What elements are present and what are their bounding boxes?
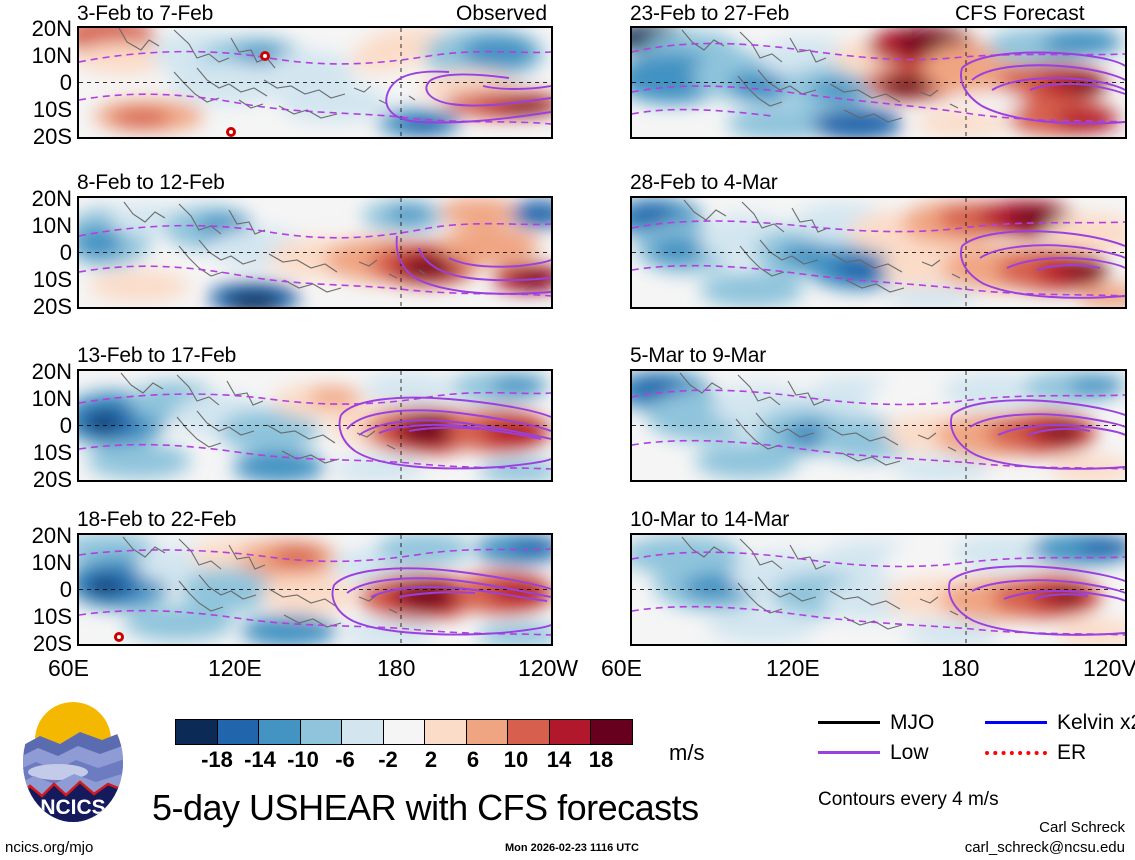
map-panel-5mar-9mar[interactable] [630,369,1127,482]
panel-title-3: 13-Feb to 17-Feb [77,345,236,366]
legend-item-kelvin: Kelvin x2 [985,712,1135,733]
observed-label: Observed [456,3,547,24]
site-url[interactable]: ncics.org/mjo [5,840,93,855]
ylabel-r2-10S: 10S [6,269,72,291]
xlabel-left-60E: 60E [48,657,89,680]
colorbar-swatch-2 [217,719,260,745]
ylabel-r2-20N: 20N [6,188,72,210]
colorbar-unit-label: m/s [669,742,704,764]
colorbar-tick-18: 18 [574,749,628,771]
author-name: Carl Schreck [900,820,1125,835]
panel-title-7: 5-Mar to 9-Mar [630,345,766,366]
colorbar-swatch-5 [341,719,384,745]
legend-line-low [818,751,880,754]
panel-title-8: 10-Mar to 14-Mar [630,509,789,530]
xlabel-left-180: 180 [377,657,415,680]
map-panel-3feb-7feb[interactable] [77,26,553,139]
legend-label-low: Low [890,742,929,763]
ylabel-r4-20N: 20N [6,525,72,547]
ylabel-r2-10N: 10N [6,215,72,237]
ylabel-r1-10S: 10S [6,99,72,121]
ylabel-r3-10N: 10N [6,388,72,410]
xlabel-right-120E: 120E [766,657,820,680]
colorbar-swatch-4 [300,719,343,745]
colorbar-swatch-1 [175,719,218,745]
panel-title-6: 28-Feb to 4-Mar [630,172,778,193]
panel-title-2: 8-Feb to 12-Feb [77,172,225,193]
ylabel-r4-10N: 10N [6,552,72,574]
ylabel-r4-10S: 10S [6,606,72,628]
legend-label-er: ER [1057,742,1086,763]
legend-label-kelvin: Kelvin x2 [1057,712,1135,733]
contour-interval-note: Contours every 4 m/s [818,790,999,809]
ylabel-r2-0: 0 [6,242,72,264]
ylabel-r1-20S: 20S [6,126,72,148]
xlabel-right-180: 180 [941,657,979,680]
colorbar-swatch-7 [424,719,467,745]
generated-timestamp: Mon 2026-02-23 1116 UTC [505,843,639,854]
ylabel-r3-20N: 20N [6,361,72,383]
ylabel-r1-0: 0 [6,72,72,94]
colorbar-swatch-10 [549,719,592,745]
ylabel-r4-0: 0 [6,579,72,601]
ylabel-r2-20S: 20S [6,296,72,318]
legend-item-mjo: MJO [818,712,934,733]
ylabel-r3-0: 0 [6,415,72,437]
colorbar-swatches [175,719,632,745]
panel-title-1: 3-Feb to 7-Feb [77,3,213,24]
map-panel-18feb-22feb[interactable] [77,533,553,646]
panel-title-5: 23-Feb to 27-Feb [630,3,789,24]
colorbar-swatch-9 [507,719,550,745]
colorbar-swatch-11 [590,719,633,745]
ncics-logo: NCICS [18,700,128,825]
colorbar-swatch-3 [258,719,301,745]
ylabel-r4-20S: 20S [6,633,72,655]
map-panel-13feb-17feb[interactable] [77,369,553,482]
legend-label-mjo: MJO [890,712,934,733]
colorbar-swatch-8 [466,719,509,745]
author-email: carl_schreck@ncsu.edu [860,840,1125,855]
colorbar-swatch-6 [383,719,426,745]
ncics-logo-text: NCICS [40,796,105,819]
xlabel-left-120W: 120W [518,657,578,680]
xlabel-left-120E: 120E [208,657,262,680]
map-panel-23feb-27feb[interactable] [630,26,1127,139]
legend-line-mjo [818,721,880,724]
legend-item-er: ER [985,742,1086,763]
xlabel-right-120W: 120V [1083,657,1135,680]
panel-title-4: 18-Feb to 22-Feb [77,509,236,530]
ylabel-r3-20S: 20S [6,469,72,491]
map-panel-28feb-4mar[interactable] [630,196,1127,309]
map-panel-8feb-12feb[interactable] [77,196,553,309]
xlabel-right-60E: 60E [601,657,642,680]
legend-line-er [985,751,1047,755]
chart-title: 5-day USHEAR with CFS forecasts [152,790,699,826]
legend-line-kelvin [985,721,1047,724]
ylabel-r3-10S: 10S [6,442,72,464]
ylabel-r1-20N: 20N [6,18,72,40]
cfs-forecast-label: CFS Forecast [955,3,1085,24]
ylabel-r1-10N: 10N [6,45,72,67]
map-panel-10mar-14mar[interactable] [630,533,1127,646]
legend-item-low: Low [818,742,929,763]
